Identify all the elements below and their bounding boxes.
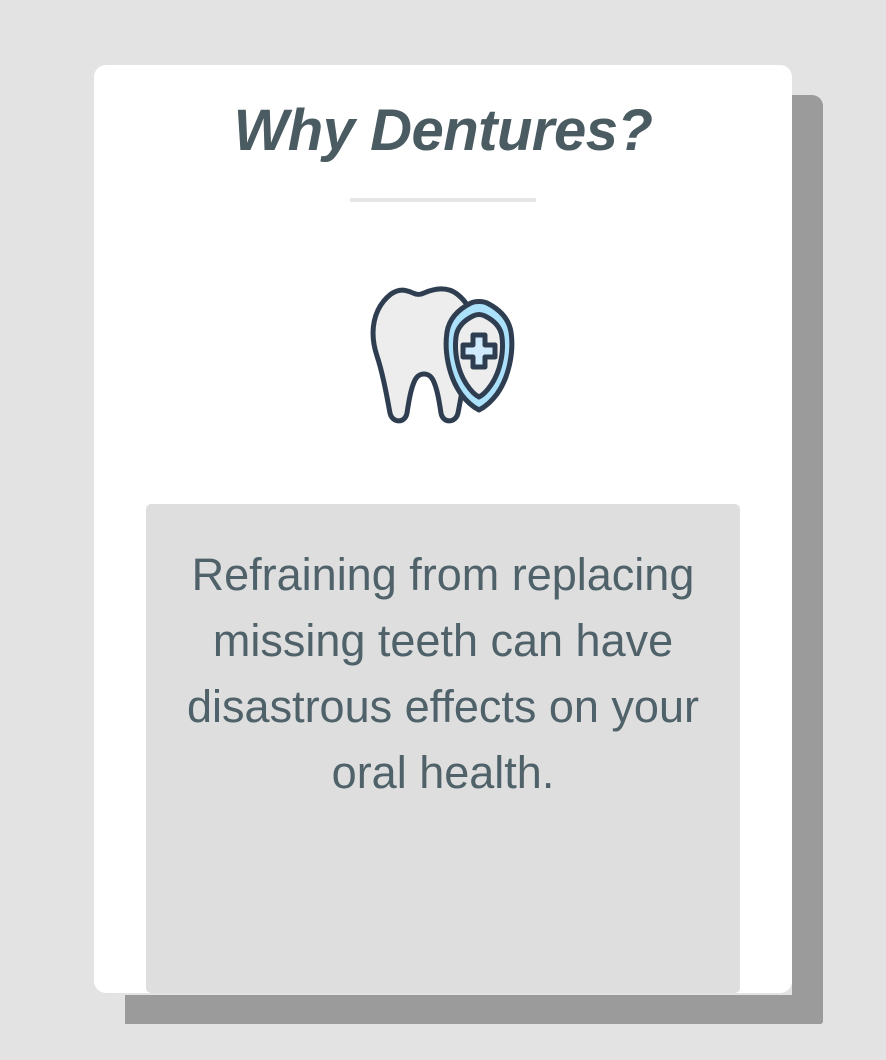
icon-container — [94, 270, 792, 430]
body-text: Refraining from replacing missing teeth … — [168, 542, 718, 806]
card-drop-shadow-right — [792, 95, 823, 1024]
body-text-panel: Refraining from replacing missing teeth … — [146, 504, 740, 993]
slide-canvas: Why Dentures? Refraining from replacing … — [0, 0, 886, 1060]
card-drop-shadow-bottom — [125, 995, 823, 1024]
tooth-shield-plus-icon — [353, 270, 533, 430]
title-divider — [350, 198, 536, 202]
page-title: Why Dentures? — [94, 97, 792, 164]
content-card: Why Dentures? Refraining from replacing … — [94, 65, 792, 993]
